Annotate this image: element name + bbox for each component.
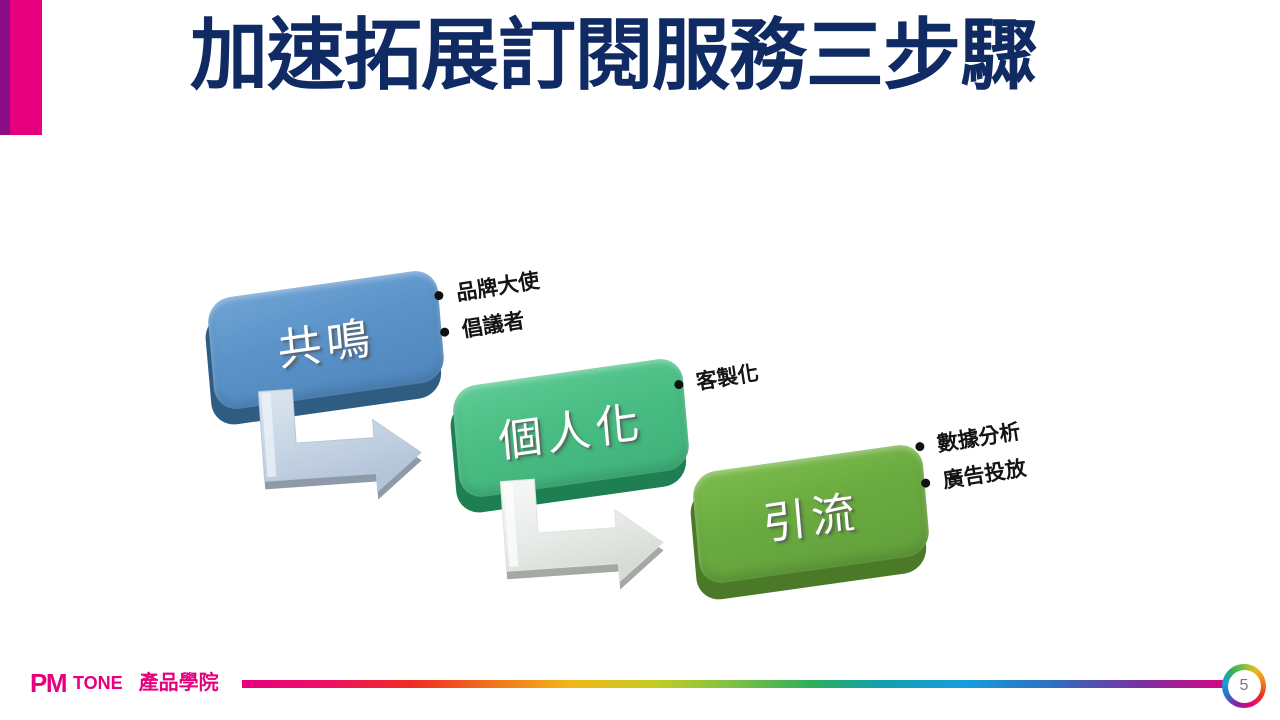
bullet-label: 廣告投放 [941,452,1029,495]
step-box-label: 引流 [760,475,863,552]
bullet-list-traffic: 數據分析 廣告投放 [913,415,1029,505]
list-item: 客製化 [672,357,761,400]
bullet-dot-icon [434,290,444,300]
bullet-dot-icon [674,379,684,389]
list-item: 倡議者 [438,301,547,347]
step-box-label: 共鳴 [275,301,378,378]
bullet-label: 客製化 [694,357,761,396]
bullet-label: 品牌大使 [454,264,542,307]
connector-arrow-2 [494,463,683,605]
logo-pm-text: PM [30,670,66,696]
bullet-label: 數據分析 [935,415,1023,458]
bullet-list-personalization: 客製化 [672,357,762,407]
logo-chinese-text: 產品學院 [139,673,219,693]
logo-tone-text: TONE [73,674,123,692]
bullet-dot-icon [920,478,930,488]
l-shaped-arrow-icon [252,373,440,510]
accent-bar-magenta [10,0,42,135]
l-shaped-arrow-icon [494,463,682,600]
bullet-dot-icon [439,327,449,337]
step-box-traffic: 引流 [691,442,931,586]
page-number-badge: 5 [1222,664,1266,708]
bullet-list-resonance: 品牌大使 倡議者 [432,264,548,354]
brand-logo: PM TONE 產品學院 [30,670,219,696]
bullet-dot-icon [915,441,925,451]
accent-bar-purple [0,0,10,135]
list-item: 廣告投放 [919,452,1028,498]
page-title: 加速拓展訂閱服務三步驟 [190,12,1110,99]
bullet-label: 倡議者 [460,304,527,343]
step-box-label: 個人化 [495,386,646,470]
slide-canvas: 加速拓展訂閱服務三步驟 共鳴 品牌大使 倡議者 [0,0,1280,720]
connector-arrow-1 [252,373,441,515]
footer-rainbow-divider [242,680,1242,688]
page-number-label: 5 [1228,670,1261,703]
